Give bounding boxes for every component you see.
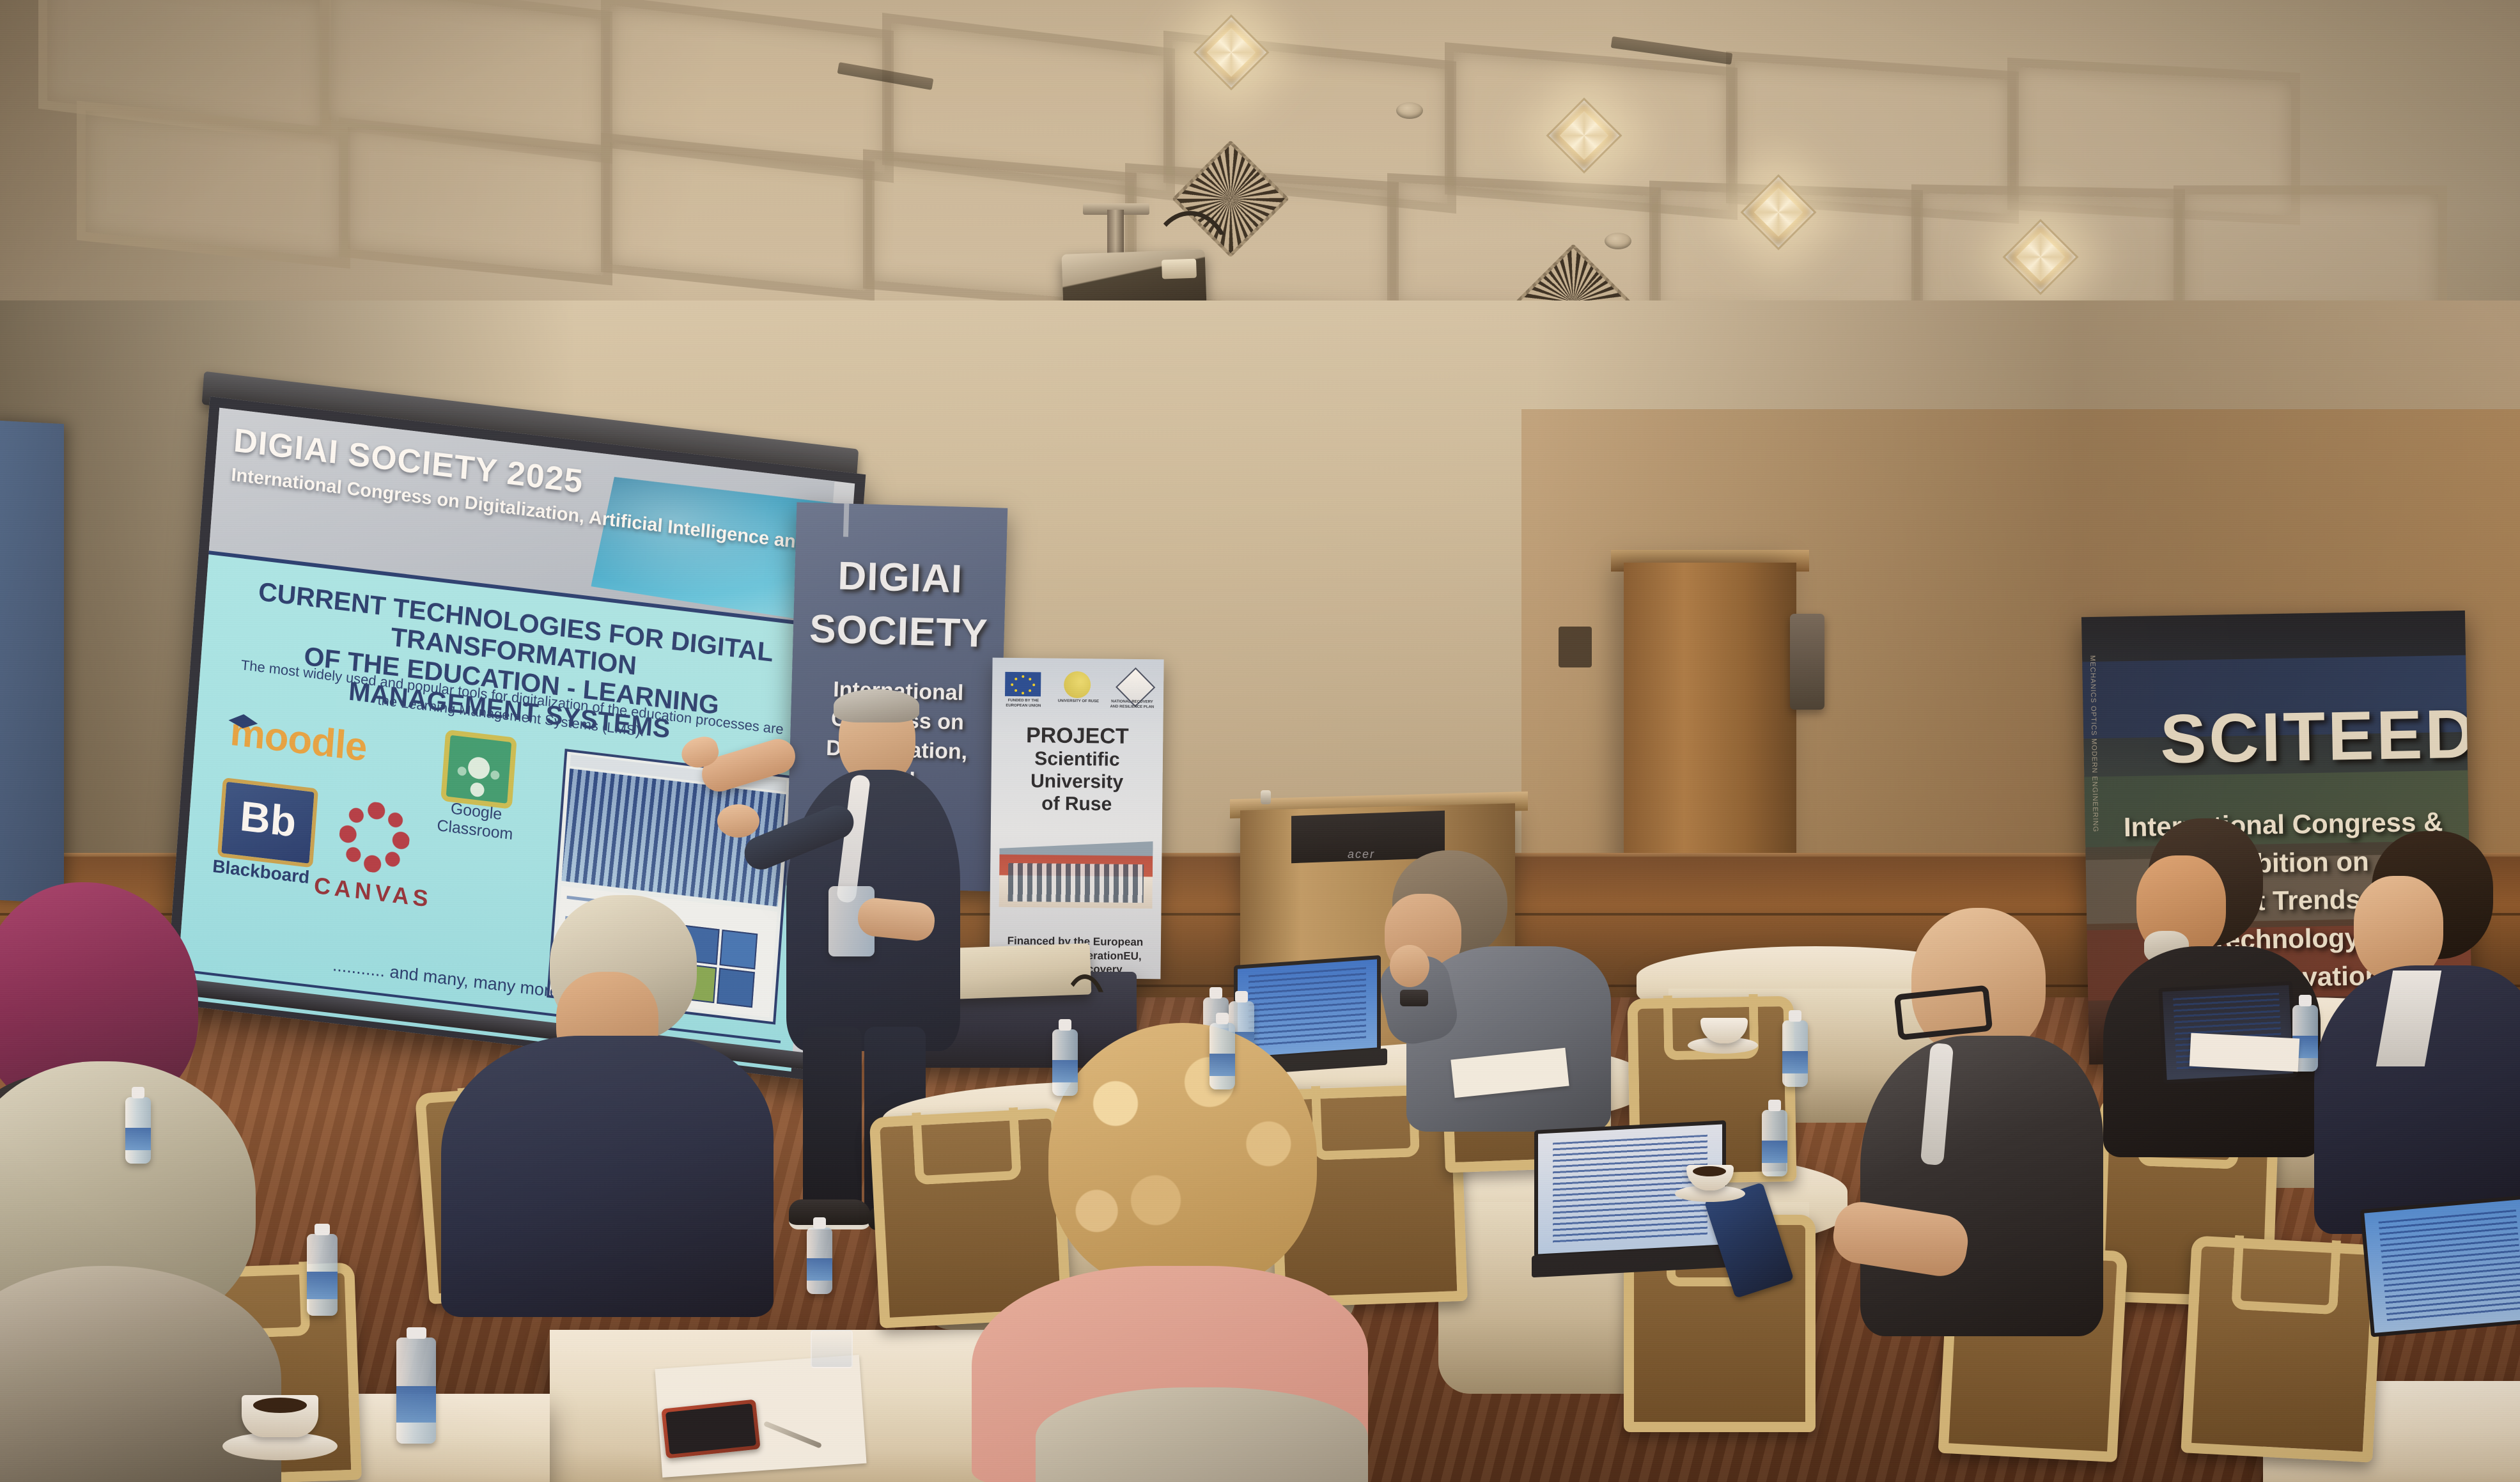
wall-speaker [1559,627,1592,667]
projector-mount-arm [1107,210,1124,256]
banquet-chair[interactable] [2181,1235,2383,1462]
banner-hook [843,503,850,537]
drinking-glass[interactable] [811,1330,853,1368]
laptop-screen[interactable] [2364,1199,2520,1333]
laptop-lid [2360,1195,2520,1338]
ceiling-coffer [601,133,875,301]
google-classroom-logo-mark [440,729,517,809]
attendee-hand [1390,945,1429,987]
audience-foreground [1036,1387,1368,1482]
ruse-title-line-2: Scientific [992,748,1163,772]
attendee-navy-blazer [441,1036,774,1317]
wall-speaker [1790,614,1824,710]
presenter-leg-left [803,1027,862,1219]
canvas-logo-mark [337,798,412,877]
ceiling-coffer [339,118,612,286]
smoke-detector [1605,233,1631,249]
attendee-foreground-head [1036,1387,1368,1482]
water-bottle[interactable] [807,1228,832,1294]
classroom-people-icon [467,756,490,780]
water-bottle[interactable] [125,1097,151,1164]
ruse-title-line-1: PROJECT [992,723,1163,750]
moodle-logo: moodle [229,709,368,770]
laptop[interactable] [2360,1195,2520,1338]
university-of-ruse-icon [1064,671,1091,698]
coffee-liquid [1693,1166,1726,1176]
smartphone-red-case[interactable] [661,1399,760,1458]
water-bottle[interactable] [396,1338,436,1444]
phone-screen[interactable] [665,1403,756,1455]
coffee-liquid [253,1398,307,1413]
sciteed-title: SCITEED [2159,694,2473,779]
digiai-banner-line-2: SOCIETY [793,605,1005,657]
water-bottle[interactable] [1052,1029,1078,1096]
ruse-banner-logo-row: FUNDED BY THE EUROPEAN UNION UNIVERSITY … [992,669,1164,717]
ruse-banner-title: PROJECT Scientific University of Ruse [991,723,1163,817]
ceiling-coffer [77,101,350,269]
ruse-building-photo [999,836,1153,909]
attendee-leather-jacket [1860,1036,2103,1336]
podium-microphone [1261,790,1271,804]
presenter-hair [834,689,919,722]
conference-photo-scene: S DIGIAI SOCIETY 2025 International Cong… [0,0,2520,1482]
audience-navy-blazer [422,895,780,1317]
water-bottle[interactable] [307,1234,338,1316]
presenter-hand [717,804,759,838]
laptop-document-lines [2378,1210,2520,1322]
university-of-ruse-caption: UNIVERSITY OF RUSE [1054,699,1103,705]
attendee-wristwatch [1400,990,1428,1006]
eu-flag-icon [1005,672,1041,697]
attendee-curly-hair [1048,1023,1317,1291]
water-bottle[interactable] [1762,1110,1787,1176]
ruse-title-line-4: of Ruse [991,793,1162,817]
water-bottle[interactable] [1209,1023,1235,1089]
audience-right-suit [2289,831,2520,1240]
ruse-building-windows [1008,862,1144,903]
canvas-logo-label: CANVAS [305,871,440,914]
presenter-shoe-left [789,1199,871,1229]
eu-stars [1005,672,1041,697]
left-edge-banner: S [0,420,64,903]
water-bottle[interactable] [1782,1020,1808,1087]
ruse-title-line-3: University [991,770,1162,795]
screenshot-hero-image [562,768,786,907]
eu-flag-caption: FUNDED BY THE EUROPEAN UNION [999,699,1048,709]
blackboard-logo-mark: Bb [217,777,318,868]
national-recovery-plan-caption: NATIONAL RECOVERY AND RESILIENCE PLAN [1107,699,1157,710]
glasses-icon [1894,985,1993,1040]
digiai-banner-line-1: DIGIAI [794,552,1006,603]
google-classroom-logo-label: Google Classroom [414,795,537,846]
notepad[interactable] [2189,1033,2299,1072]
project-ruse-banner: FUNDED BY THE EUROPEAN UNION UNIVERSITY … [989,658,1163,979]
audience-leather-jacket [1764,908,2097,1394]
chair-back-notch [2231,1235,2341,1315]
smoke-detector [1396,102,1423,119]
